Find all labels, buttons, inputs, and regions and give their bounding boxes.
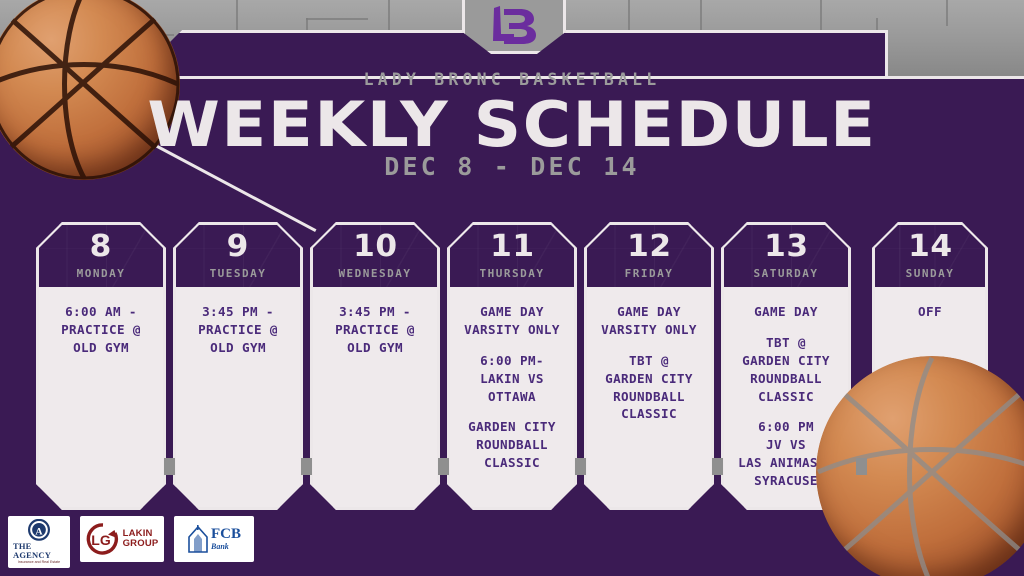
- sponsor-fcb-mark: FCB: [211, 527, 241, 543]
- event-block: TBT @ GARDEN CITY ROUNDBALL CLASSIC: [594, 352, 704, 424]
- day-name: SUNDAY: [906, 267, 955, 280]
- day-card-wednesday[interactable]: 10WEDNESDAY3:45 PM - PRACTICE @ OLD GYM: [310, 222, 440, 510]
- day-number: 13: [764, 232, 808, 262]
- sponsor-logo-the-agency: A THE AGENCY Insurance and Real Estate: [8, 516, 70, 568]
- event-block: GAME DAY VARSITY ONLY: [594, 303, 704, 339]
- schedule-graphic: LADY BRONC BASKETBALL WEEKLY SCHEDULE DE…: [0, 0, 1024, 576]
- svg-text:A: A: [35, 526, 43, 537]
- day-card-header: 8MONDAY: [39, 225, 163, 287]
- kicker-text: LADY BRONC BASKETBALL: [0, 70, 1024, 89]
- card-gap-tick: [164, 458, 175, 475]
- day-card-frame: 10WEDNESDAY3:45 PM - PRACTICE @ OLD GYM: [310, 222, 440, 510]
- day-name: MONDAY: [77, 267, 126, 280]
- sponsor-logo-lakin-group: LG LAKIN GROUP: [80, 516, 164, 562]
- day-card-body: GAME DAY VARSITY ONLYTBT @ GARDEN CITY R…: [587, 287, 711, 513]
- event-block: 6:00 AM - PRACTICE @ OLD GYM: [46, 303, 156, 357]
- svg-text:LG: LG: [91, 532, 111, 548]
- card-gap-tick: [301, 458, 312, 475]
- day-card-header: 9TUESDAY: [176, 225, 300, 287]
- day-card-body: 3:45 PM - PRACTICE @ OLD GYM: [313, 287, 437, 513]
- day-card-frame: 9TUESDAY3:45 PM - PRACTICE @ OLD GYM: [173, 222, 303, 510]
- day-number: 11: [490, 232, 534, 262]
- card-gap-tick: [856, 458, 867, 475]
- day-card-header: 10WEDNESDAY: [313, 225, 437, 287]
- day-card-frame: 11THURSDAYGAME DAY VARSITY ONLY6:00 PM- …: [447, 222, 577, 510]
- event-block: 6:00 PM- LAKIN VS OTTAWA: [457, 352, 567, 406]
- lb-monogram-icon: [462, 0, 566, 52]
- day-card-tuesday[interactable]: 9TUESDAY3:45 PM - PRACTICE @ OLD GYM: [173, 222, 303, 510]
- day-number: 10: [353, 232, 397, 262]
- day-card-body: 6:00 AM - PRACTICE @ OLD GYM: [39, 287, 163, 513]
- date-range: DEC 8 - DEC 14: [0, 152, 1024, 181]
- event-block: GAME DAY: [731, 303, 841, 321]
- card-gap-tick: [575, 458, 586, 475]
- day-number: 9: [227, 232, 249, 262]
- day-card-thursday[interactable]: 11THURSDAYGAME DAY VARSITY ONLY6:00 PM- …: [447, 222, 577, 510]
- day-name: FRIDAY: [625, 267, 674, 280]
- day-card-body: GAME DAY VARSITY ONLY6:00 PM- LAKIN VS O…: [450, 287, 574, 513]
- sponsor-lakin-line2: GROUP: [123, 539, 159, 549]
- day-card-header: 12FRIDAY: [587, 225, 711, 287]
- day-card-monday[interactable]: 8MONDAY6:00 AM - PRACTICE @ OLD GYM: [36, 222, 166, 510]
- day-card-body: 3:45 PM - PRACTICE @ OLD GYM: [176, 287, 300, 513]
- day-number: 12: [627, 232, 671, 262]
- day-name: TUESDAY: [210, 267, 267, 280]
- event-block: 3:45 PM - PRACTICE @ OLD GYM: [320, 303, 430, 357]
- sponsor-agency-subtitle: Insurance and Real Estate: [18, 561, 60, 565]
- event-block: 3:45 PM - PRACTICE @ OLD GYM: [183, 303, 293, 357]
- day-card-friday[interactable]: 12FRIDAYGAME DAY VARSITY ONLYTBT @ GARDE…: [584, 222, 714, 510]
- day-card-frame: 12FRIDAYGAME DAY VARSITY ONLYTBT @ GARDE…: [584, 222, 714, 510]
- day-number: 8: [90, 232, 112, 262]
- event-block: OFF: [882, 303, 978, 321]
- sponsor-agency-title: THE AGENCY: [13, 542, 65, 559]
- sponsor-logo-fcb-bank: FCB Bank: [174, 516, 254, 562]
- basketball-decor-right: [816, 356, 1024, 576]
- page-title: WEEKLY SCHEDULE: [0, 88, 1024, 161]
- day-card-header: 13SATURDAY: [724, 225, 848, 287]
- event-block: GAME DAY VARSITY ONLY: [457, 303, 567, 339]
- event-block: GARDEN CITY ROUNDBALL CLASSIC: [457, 418, 567, 472]
- day-card-header: 11THURSDAY: [450, 225, 574, 287]
- day-name: SATURDAY: [754, 267, 819, 280]
- card-gap-tick: [712, 458, 723, 475]
- sponsor-fcb-script: Bank: [211, 543, 241, 551]
- day-number: 14: [908, 232, 952, 262]
- card-gap-tick: [438, 458, 449, 475]
- day-card-frame: 8MONDAY6:00 AM - PRACTICE @ OLD GYM: [36, 222, 166, 510]
- day-card-header: 14SUNDAY: [875, 225, 985, 287]
- day-name: WEDNESDAY: [338, 267, 411, 280]
- sponsor-logo-row: A THE AGENCY Insurance and Real Estate L…: [8, 516, 254, 568]
- day-name: THURSDAY: [480, 267, 545, 280]
